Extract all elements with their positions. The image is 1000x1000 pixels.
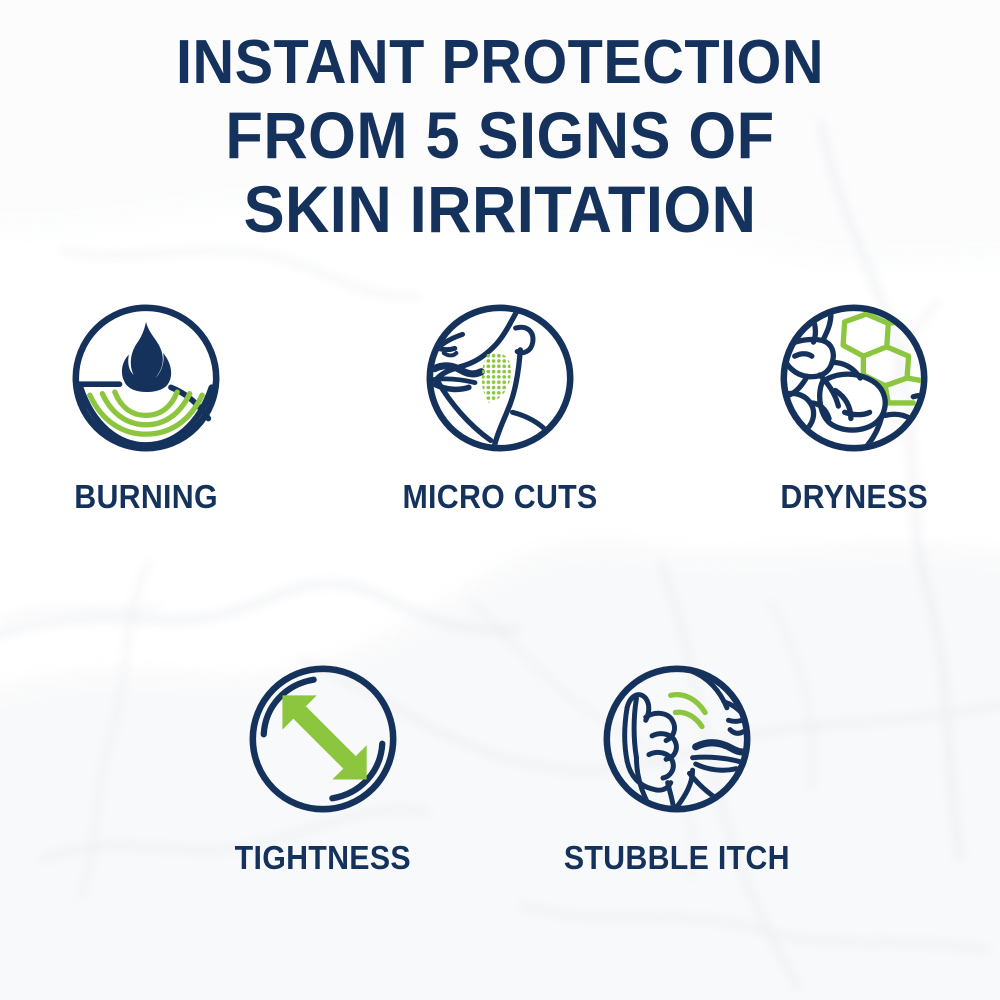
- hand-scratching-face-icon: [599, 661, 755, 817]
- sign-label-tightness: TIGHTNESS: [235, 839, 411, 877]
- headline-line-2: FROM 5 SIGNS OF: [35, 98, 965, 172]
- sign-item-tightness[interactable]: TIGHTNESS: [225, 661, 421, 877]
- headline-line-1: INSTANT PROTECTION: [35, 28, 965, 98]
- signs-row-top: BURNING: [0, 300, 1000, 516]
- sign-item-dryness[interactable]: DRYNESS: [756, 300, 952, 516]
- face-profile-stubble-dots-icon: [422, 300, 578, 456]
- cracked-skin-cells-icon: [776, 300, 932, 456]
- sign-label-stubble-itch: STUBBLE ITCH: [564, 839, 790, 877]
- sign-item-stubble-itch[interactable]: STUBBLE ITCH: [579, 661, 775, 877]
- headline-line-3: SKIN IRRITATION: [35, 172, 965, 246]
- stretch-arrows-circle-icon: [245, 661, 401, 817]
- skin-irritation-infographic: INSTANT PROTECTION FROM 5 SIGNS OF SKIN …: [0, 0, 1000, 1000]
- sign-label-micro-cuts: MICRO CUTS: [402, 478, 597, 516]
- signs-grid: BURNING: [0, 300, 1000, 877]
- sign-label-dryness: DRYNESS: [780, 478, 928, 516]
- sign-item-micro-cuts[interactable]: MICRO CUTS: [402, 300, 598, 516]
- sign-label-burning: BURNING: [74, 478, 218, 516]
- signs-row-bottom: TIGHTNESS: [0, 661, 1000, 877]
- sign-item-burning[interactable]: BURNING: [48, 300, 244, 516]
- flame-over-skin-waves-icon: [68, 300, 224, 456]
- headline: INSTANT PROTECTION FROM 5 SIGNS OF SKIN …: [0, 28, 1000, 246]
